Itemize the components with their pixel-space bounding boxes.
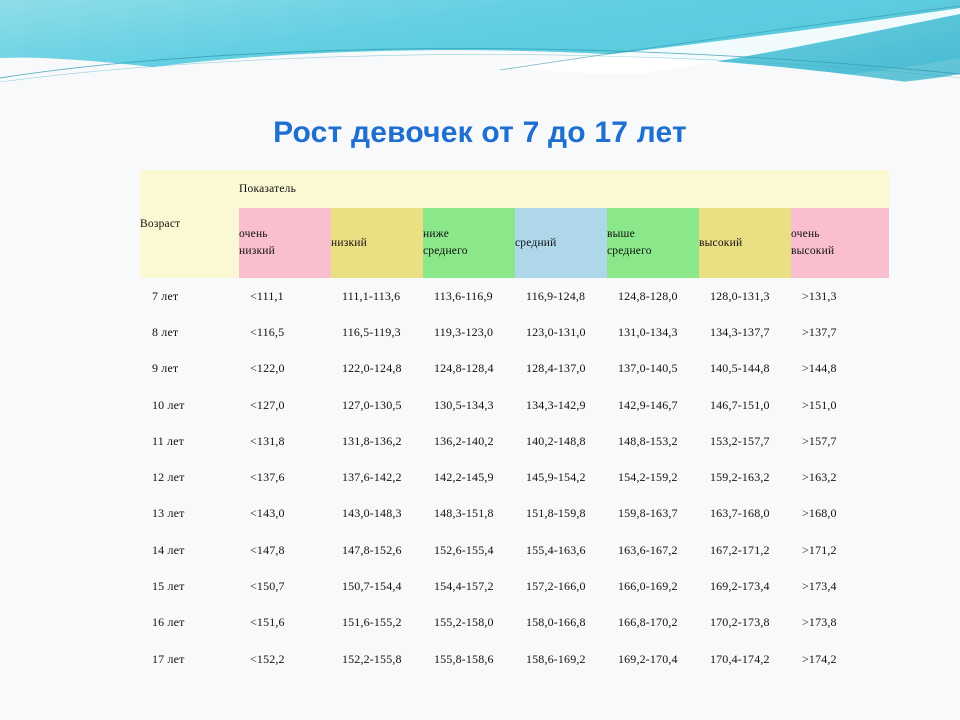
cell-age: 10 лет [140,387,239,423]
cell-age: 7 лет [140,278,239,314]
table-row: 16 лет<151,6151,6-155,2155,2-158,0158,0-… [140,605,889,641]
cell-range: 170,4-174,2 [699,641,791,677]
cell-range: >173,4 [791,568,889,604]
table-head: Возраст Показатель очень низкий низкий н… [140,170,889,278]
cell-range: 116,9-124,8 [515,278,607,314]
table-body: 7 лет<111,1111,1-113,6113,6-116,9116,9-1… [140,278,889,677]
cell-range: 167,2-171,2 [699,532,791,568]
cell-age: 16 лет [140,605,239,641]
cell-range: 166,0-169,2 [607,568,699,604]
table-row: 8 лет<116,5116,5-119,3119,3-123,0123,0-1… [140,314,889,350]
cell-range: >163,2 [791,459,889,495]
cell-range: 137,6-142,2 [331,459,423,495]
cell-range: <152,2 [239,641,331,677]
cell-range: <116,5 [239,314,331,350]
table-row: 15 лет<150,7150,7-154,4154,4-157,2157,2-… [140,568,889,604]
cell-range: 127,0-130,5 [331,387,423,423]
cell-range: 119,3-123,0 [423,314,515,350]
cell-range: 142,9-146,7 [607,387,699,423]
page-title: Рост девочек от 7 до 17 лет [0,116,960,150]
band-label-line: средний [515,235,607,252]
cell-range: 131,0-134,3 [607,314,699,350]
cell-range: 140,5-144,8 [699,351,791,387]
band-label-line: среднего [423,243,515,260]
cell-range: 154,4-157,2 [423,568,515,604]
cell-range: 166,8-170,2 [607,605,699,641]
cell-range: 131,8-136,2 [331,423,423,459]
cell-range: 145,9-154,2 [515,459,607,495]
cell-range: 154,2-159,2 [607,459,699,495]
cell-range: 143,0-148,3 [331,496,423,532]
table-header-row-bands: очень низкий низкий ниже среднего средни… [140,208,889,278]
cell-range: >168,0 [791,496,889,532]
cell-age: 17 лет [140,641,239,677]
table-header-row-group: Возраст Показатель [140,170,889,208]
table-row: 10 лет<127,0127,0-130,5130,5-134,3134,3-… [140,387,889,423]
cell-range: 124,8-128,4 [423,351,515,387]
cell-range: 123,0-131,0 [515,314,607,350]
cell-range: 152,2-155,8 [331,641,423,677]
cell-range: 116,5-119,3 [331,314,423,350]
cell-range: 153,2-157,7 [699,423,791,459]
cell-age: 13 лет [140,496,239,532]
cell-range: 128,0-131,3 [699,278,791,314]
cell-range: 152,6-155,4 [423,532,515,568]
cell-range: 136,2-140,2 [423,423,515,459]
band-label-line: ниже [423,226,515,243]
cell-age: 12 лет [140,459,239,495]
table-row: 12 лет<137,6137,6-142,2142,2-145,9145,9-… [140,459,889,495]
cell-range: >137,7 [791,314,889,350]
header-band-low: низкий [331,208,423,278]
cell-range: 122,0-124,8 [331,351,423,387]
cell-range: >174,2 [791,641,889,677]
cell-range: 128,4-137,0 [515,351,607,387]
band-label-line: высокий [699,235,791,252]
cell-range: >144,8 [791,351,889,387]
cell-range: 169,2-170,4 [607,641,699,677]
band-label-line: очень [239,226,331,243]
cell-range: <147,8 [239,532,331,568]
band-label-line: выше [607,226,699,243]
cell-range: 150,7-154,4 [331,568,423,604]
table-row: 13 лет<143,0143,0-148,3148,3-151,8151,8-… [140,496,889,532]
header-band-below-average: ниже среднего [423,208,515,278]
cell-range: 130,5-134,3 [423,387,515,423]
cell-range: >131,3 [791,278,889,314]
cell-range: 158,6-169,2 [515,641,607,677]
cell-age: 14 лет [140,532,239,568]
cell-range: 111,1-113,6 [331,278,423,314]
cell-range: 158,0-166,8 [515,605,607,641]
cell-range: 163,6-167,2 [607,532,699,568]
cell-range: <151,6 [239,605,331,641]
decorative-swoosh-banner [0,0,960,96]
cell-range: 142,2-145,9 [423,459,515,495]
cell-range: <131,8 [239,423,331,459]
cell-range: <150,7 [239,568,331,604]
cell-range: 134,3-142,9 [515,387,607,423]
cell-range: 155,2-158,0 [423,605,515,641]
header-band-very-low: очень низкий [239,208,331,278]
cell-range: 155,8-158,6 [423,641,515,677]
header-band-above-average: выше среднего [607,208,699,278]
girls-height-table: Возраст Показатель очень низкий низкий н… [140,170,889,677]
cell-range: 157,2-166,0 [515,568,607,604]
table-row: 17 лет<152,2152,2-155,8155,8-158,6158,6-… [140,641,889,677]
cell-range: >157,7 [791,423,889,459]
cell-range: 170,2-173,8 [699,605,791,641]
table-row: 9 лет<122,0122,0-124,8124,8-128,4128,4-1… [140,351,889,387]
table-row: 11 лет<131,8131,8-136,2136,2-140,2140,2-… [140,423,889,459]
cell-range: 163,7-168,0 [699,496,791,532]
cell-range: 151,8-159,8 [515,496,607,532]
cell-range: <127,0 [239,387,331,423]
table-row: 14 лет<147,8147,8-152,6152,6-155,4155,4-… [140,532,889,568]
cell-range: 147,8-152,6 [331,532,423,568]
swoosh-graphic [0,0,960,96]
growth-table-container: Возраст Показатель очень низкий низкий н… [140,170,889,677]
cell-age: 15 лет [140,568,239,604]
cell-range: >171,2 [791,532,889,568]
cell-range: <143,0 [239,496,331,532]
header-band-very-high: очень высокий [791,208,889,278]
header-band-average: средний [515,208,607,278]
cell-range: 124,8-128,0 [607,278,699,314]
cell-range: <137,6 [239,459,331,495]
cell-range: 134,3-137,7 [699,314,791,350]
cell-range: 169,2-173,4 [699,568,791,604]
cell-range: 140,2-148,8 [515,423,607,459]
cell-range: >151,0 [791,387,889,423]
header-band-high: высокий [699,208,791,278]
cell-age: 8 лет [140,314,239,350]
cell-range: 148,8-153,2 [607,423,699,459]
band-label-line: очень [791,226,889,243]
table-row: 7 лет<111,1111,1-113,6113,6-116,9116,9-1… [140,278,889,314]
cell-range: >173,8 [791,605,889,641]
cell-range: 159,2-163,2 [699,459,791,495]
cell-age: 11 лет [140,423,239,459]
cell-range: 155,4-163,6 [515,532,607,568]
cell-range: <111,1 [239,278,331,314]
cell-age: 9 лет [140,351,239,387]
header-metric: Показатель [239,170,889,208]
cell-range: <122,0 [239,351,331,387]
band-label-line: среднего [607,243,699,260]
cell-range: 137,0-140,5 [607,351,699,387]
cell-range: 151,6-155,2 [331,605,423,641]
cell-range: 159,8-163,7 [607,496,699,532]
band-label-line: низкий [239,243,331,260]
band-label-line: низкий [331,235,423,252]
header-age: Возраст [140,170,239,278]
cell-range: 148,3-151,8 [423,496,515,532]
cell-range: 113,6-116,9 [423,278,515,314]
band-label-line: высокий [791,243,889,260]
cell-range: 146,7-151,0 [699,387,791,423]
